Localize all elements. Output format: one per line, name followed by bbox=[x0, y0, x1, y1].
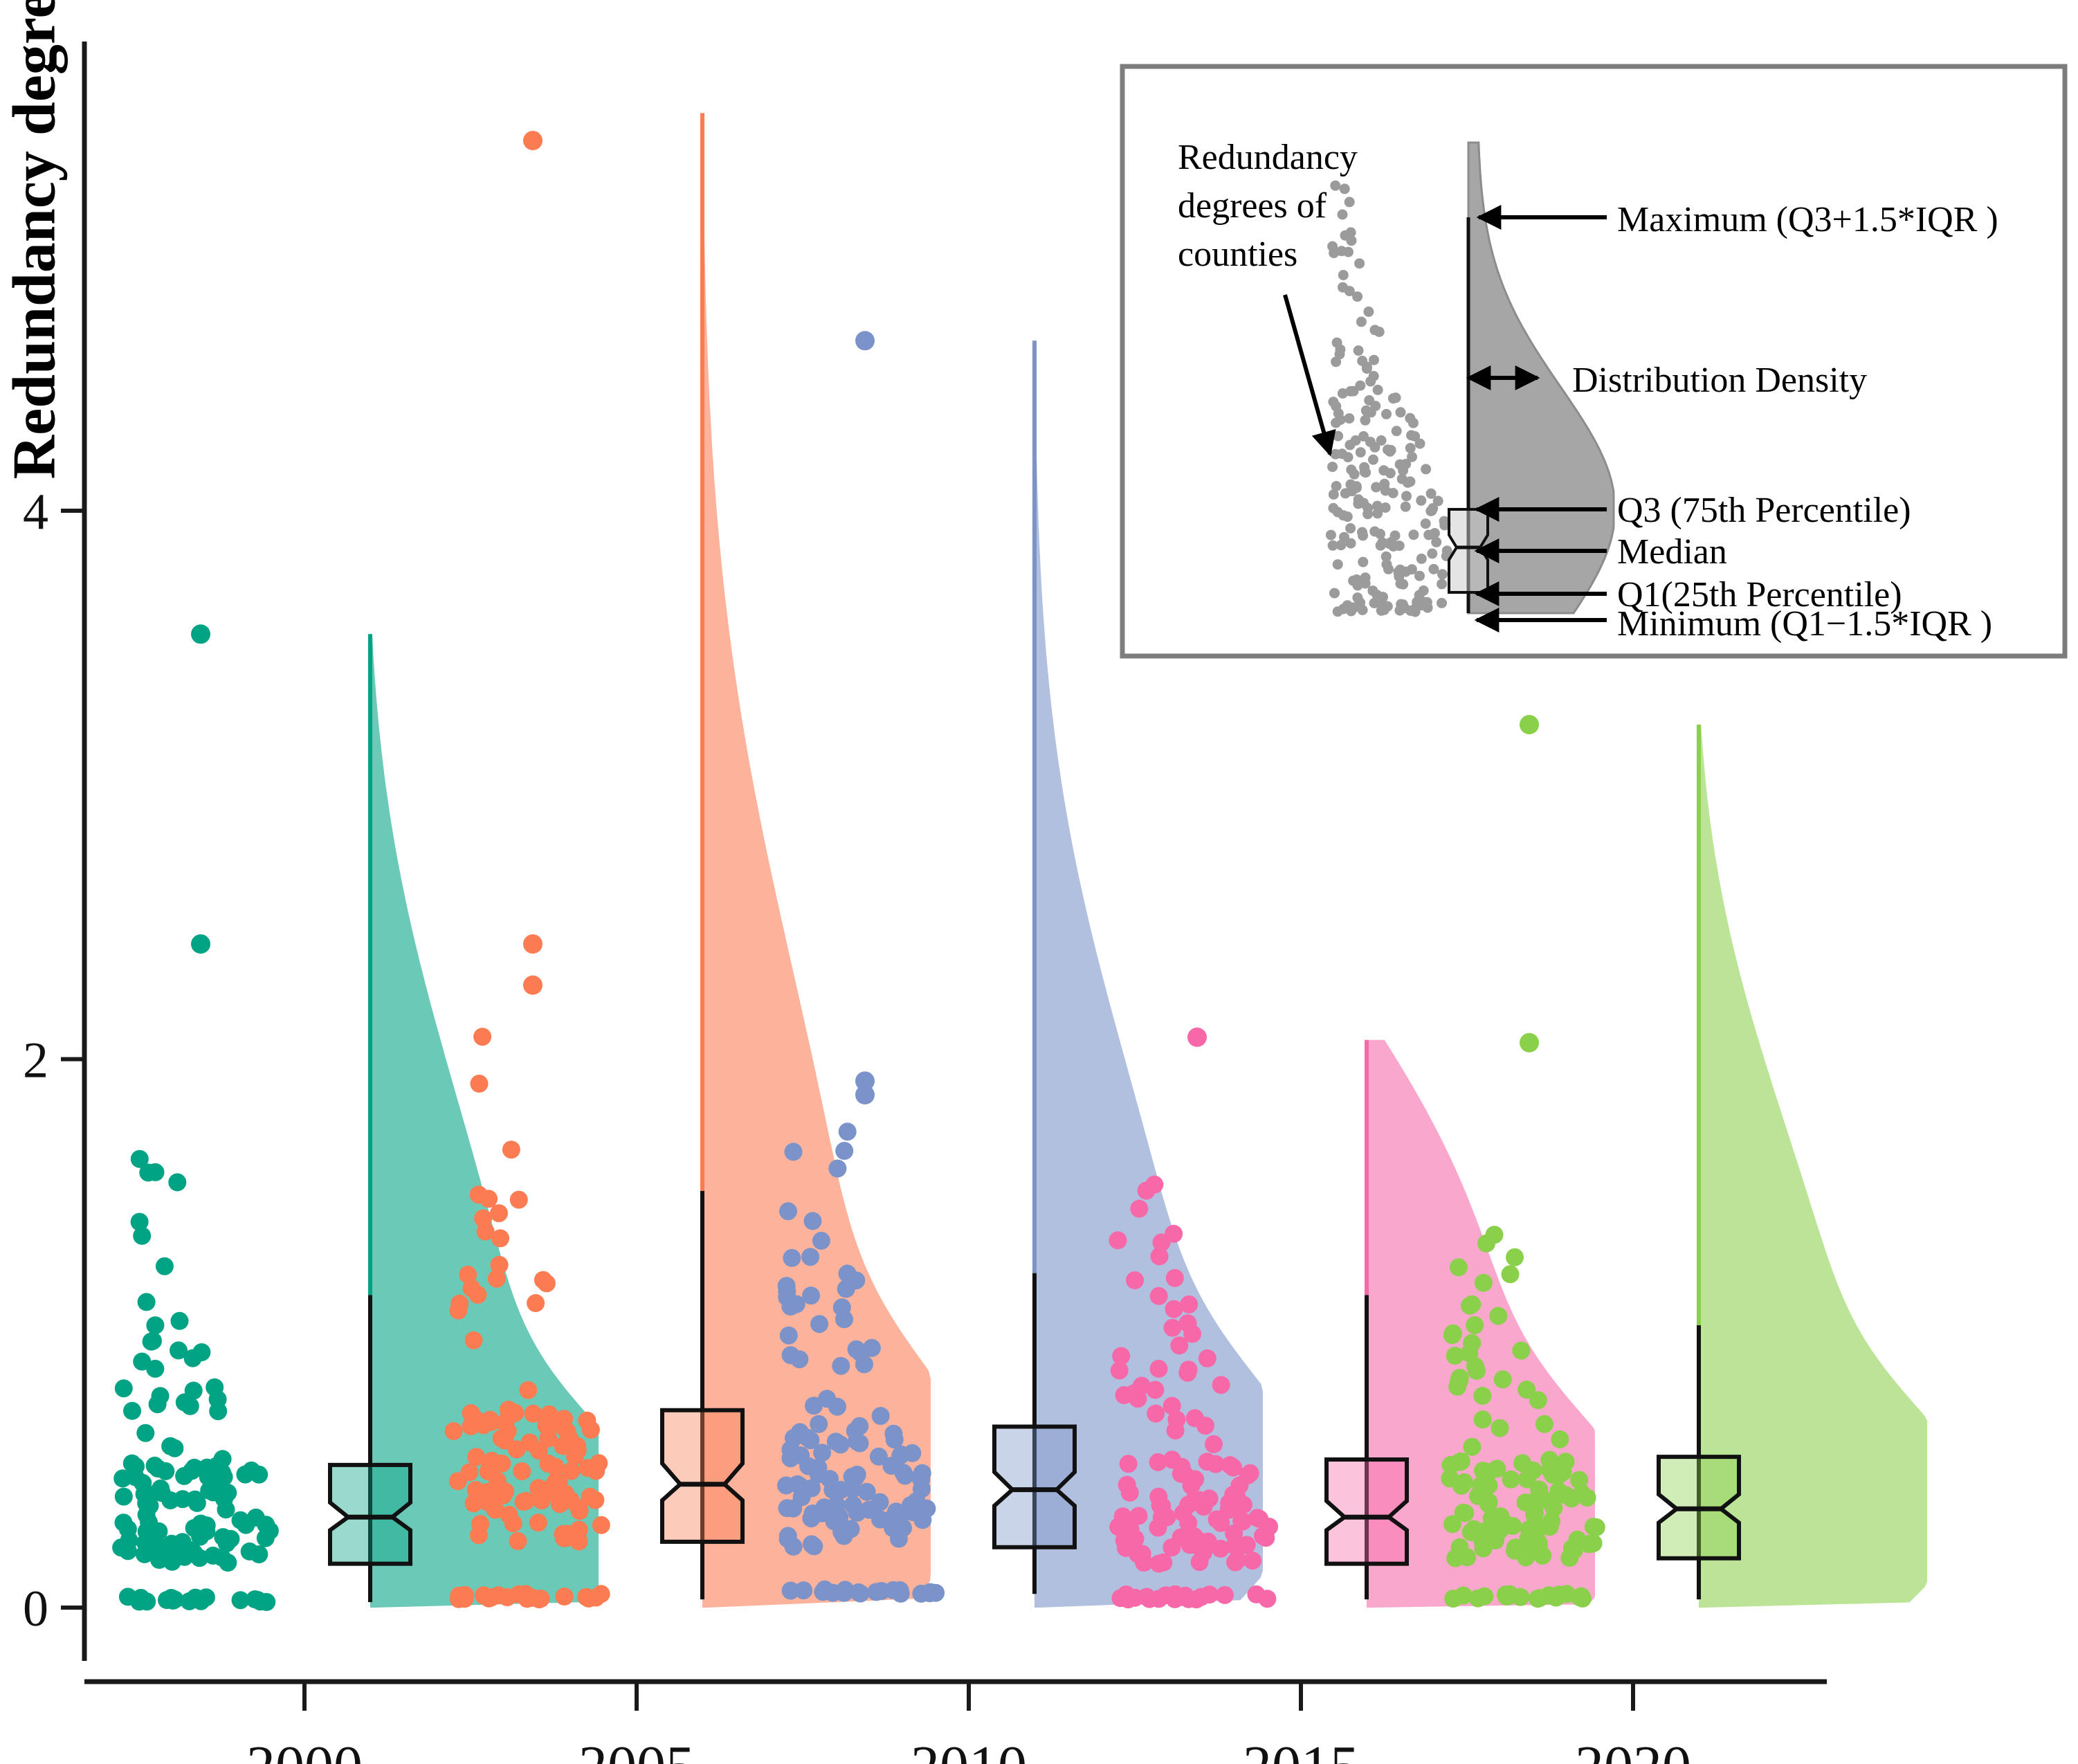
data-point bbox=[149, 1395, 167, 1413]
data-point bbox=[1109, 1231, 1127, 1249]
data-point bbox=[1494, 1513, 1512, 1531]
data-point bbox=[1118, 1476, 1136, 1494]
x-axis-tick-label: 2020 bbox=[1575, 1734, 1691, 1764]
data-point bbox=[810, 1315, 828, 1333]
data-point bbox=[554, 1525, 572, 1543]
data-point bbox=[781, 1298, 799, 1316]
data-point bbox=[896, 1467, 914, 1485]
data-point bbox=[146, 1316, 164, 1334]
data-point bbox=[480, 1190, 498, 1208]
outlier-point bbox=[855, 331, 875, 350]
data-point bbox=[587, 1462, 605, 1480]
data-point bbox=[502, 1140, 520, 1158]
data-point bbox=[1443, 1326, 1461, 1344]
data-point bbox=[1191, 1553, 1209, 1571]
inset-data-point bbox=[1369, 598, 1380, 608]
data-point bbox=[1199, 1453, 1216, 1471]
inset-scatter-label-line1: Redundancy bbox=[1178, 138, 1358, 177]
inset-data-point bbox=[1365, 437, 1376, 447]
inset-data-point bbox=[1437, 579, 1447, 589]
inset-data-point bbox=[1342, 511, 1353, 522]
data-point bbox=[540, 1455, 558, 1473]
inset-data-point bbox=[1333, 431, 1343, 442]
inset-data-point bbox=[1437, 569, 1448, 579]
data-point bbox=[1466, 1357, 1484, 1375]
inset-q3-label: Q3 (75th Percentile) bbox=[1617, 491, 1911, 530]
data-point bbox=[513, 1462, 531, 1480]
boxplot-box bbox=[662, 1410, 742, 1542]
data-point bbox=[867, 1583, 885, 1601]
data-point bbox=[556, 1588, 574, 1606]
data-point bbox=[158, 1591, 176, 1609]
data-point bbox=[1450, 1372, 1468, 1390]
inset-data-point bbox=[1331, 418, 1341, 428]
data-point bbox=[921, 1583, 939, 1601]
data-point bbox=[138, 1293, 156, 1311]
inset-data-point bbox=[1360, 466, 1370, 477]
violin-group-2015[interactable] bbox=[1109, 1028, 1596, 1608]
inset-median-label: Median bbox=[1617, 532, 1727, 572]
data-point bbox=[835, 1584, 853, 1602]
data-point bbox=[504, 1514, 522, 1532]
data-point bbox=[1513, 1454, 1531, 1472]
inset-data-point bbox=[1355, 381, 1365, 391]
data-point bbox=[161, 1437, 179, 1455]
outlier-point bbox=[191, 934, 210, 954]
data-point bbox=[145, 1542, 163, 1560]
inset-data-point bbox=[1428, 564, 1439, 574]
data-point bbox=[886, 1430, 904, 1448]
data-point bbox=[1130, 1507, 1148, 1525]
inset-data-point bbox=[1416, 554, 1427, 564]
data-point bbox=[1258, 1590, 1276, 1608]
data-point bbox=[1119, 1590, 1137, 1608]
data-point bbox=[814, 1583, 832, 1601]
boxplot-box bbox=[1327, 1460, 1407, 1564]
outlier-point bbox=[1520, 715, 1539, 734]
data-point bbox=[1462, 1523, 1480, 1541]
inset-data-point bbox=[1381, 559, 1392, 570]
data-point bbox=[592, 1516, 610, 1534]
data-point bbox=[219, 1484, 237, 1502]
inset-data-point bbox=[1364, 395, 1374, 406]
data-point bbox=[462, 1417, 480, 1435]
data-point bbox=[1474, 1410, 1492, 1428]
inset-data-point bbox=[1357, 527, 1367, 538]
data-point bbox=[1551, 1430, 1569, 1448]
data-point bbox=[1166, 1269, 1184, 1287]
inset-data-point bbox=[1351, 435, 1361, 446]
data-point bbox=[146, 1360, 164, 1378]
data-point bbox=[804, 1212, 822, 1230]
inset-data-point bbox=[1358, 557, 1368, 567]
inset-data-point bbox=[1408, 418, 1419, 428]
data-point bbox=[1456, 1504, 1474, 1522]
data-point bbox=[1216, 1586, 1234, 1604]
inset-data-point bbox=[1352, 592, 1362, 603]
data-point bbox=[474, 1210, 492, 1228]
data-point bbox=[1475, 1539, 1493, 1557]
inset-data-point bbox=[1343, 247, 1354, 257]
data-point bbox=[812, 1232, 830, 1250]
data-point bbox=[1441, 1470, 1459, 1488]
data-point bbox=[580, 1590, 598, 1608]
data-point bbox=[1221, 1456, 1239, 1474]
inset-scatter-label-line3: counties bbox=[1178, 235, 1297, 274]
data-point bbox=[586, 1491, 604, 1509]
outlier-point bbox=[523, 934, 543, 954]
data-point bbox=[1112, 1347, 1130, 1365]
data-point bbox=[1205, 1435, 1223, 1453]
data-point bbox=[913, 1480, 931, 1498]
data-point bbox=[1491, 1419, 1509, 1437]
data-point bbox=[1179, 1314, 1197, 1332]
inset-data-point bbox=[1380, 486, 1391, 496]
data-point bbox=[782, 1582, 800, 1600]
data-point bbox=[1475, 1274, 1493, 1292]
data-point bbox=[465, 1331, 483, 1349]
y-axis-tick-label: 4 bbox=[23, 484, 48, 540]
data-point bbox=[780, 1327, 798, 1345]
y-axis-tick-label: 0 bbox=[23, 1581, 48, 1637]
inset-data-point bbox=[1344, 413, 1354, 424]
data-point bbox=[1451, 1538, 1469, 1556]
data-point bbox=[805, 1537, 823, 1555]
inset-legend-diagram: Redundancydegrees ofcountiesMaximum (Q3+… bbox=[1122, 66, 2065, 656]
data-point bbox=[1494, 1370, 1512, 1388]
data-point bbox=[1115, 1386, 1133, 1404]
data-point bbox=[1199, 1349, 1216, 1367]
data-point bbox=[1529, 1590, 1547, 1608]
inset-data-point bbox=[1368, 455, 1378, 465]
x-axis-tick-label: 2015 bbox=[1243, 1734, 1359, 1764]
inset-data-point bbox=[1421, 518, 1431, 529]
data-point bbox=[1195, 1498, 1213, 1516]
data-point bbox=[141, 1497, 159, 1515]
data-point bbox=[903, 1444, 921, 1462]
jitter-points bbox=[1441, 715, 1605, 1608]
data-point bbox=[1230, 1476, 1248, 1494]
x-axis-tick-label: 2010 bbox=[911, 1734, 1027, 1764]
data-point bbox=[538, 1274, 556, 1292]
data-point bbox=[1140, 1590, 1158, 1608]
data-point bbox=[1463, 1438, 1481, 1456]
data-point bbox=[1572, 1588, 1590, 1606]
inset-data-point bbox=[1416, 495, 1426, 506]
inset-data-point bbox=[1381, 409, 1392, 419]
data-point bbox=[510, 1191, 528, 1209]
data-point bbox=[1150, 1360, 1168, 1378]
data-point bbox=[872, 1407, 890, 1425]
data-point bbox=[1473, 1387, 1491, 1405]
outlier-point bbox=[523, 976, 543, 995]
data-point bbox=[131, 1213, 149, 1231]
data-point bbox=[851, 1585, 869, 1603]
data-point bbox=[491, 1256, 509, 1274]
data-point bbox=[858, 1483, 876, 1501]
outlier-point bbox=[1520, 1033, 1539, 1053]
data-point bbox=[482, 1588, 500, 1606]
inset-data-point bbox=[1374, 327, 1385, 337]
data-point bbox=[491, 1229, 509, 1247]
data-point bbox=[802, 1286, 820, 1304]
data-point bbox=[493, 1455, 511, 1473]
data-point bbox=[115, 1513, 133, 1531]
data-point bbox=[1525, 1506, 1543, 1524]
inset-data-point bbox=[1383, 444, 1393, 455]
data-point bbox=[1170, 1336, 1188, 1354]
data-point bbox=[445, 1422, 463, 1440]
inset-data-point bbox=[1361, 406, 1371, 416]
data-point bbox=[147, 1163, 165, 1181]
inset-data-point bbox=[1367, 585, 1378, 596]
data-point bbox=[519, 1381, 537, 1399]
raincloud-violin-chart: 02420002005201020152020 Redundancydegree… bbox=[0, 0, 2078, 1764]
data-point bbox=[144, 1332, 162, 1350]
data-point bbox=[1254, 1527, 1272, 1545]
data-point bbox=[582, 1421, 600, 1439]
inset-data-point bbox=[1336, 540, 1346, 550]
inset-data-point bbox=[1405, 443, 1416, 453]
inset-data-point bbox=[1403, 478, 1413, 488]
outlier-point bbox=[191, 624, 210, 644]
data-point bbox=[832, 1357, 850, 1375]
data-point bbox=[1446, 1347, 1464, 1365]
inset-maximum-label: Maximum (Q3+1.5*IQR ) bbox=[1617, 200, 1998, 239]
data-point bbox=[115, 1488, 133, 1506]
data-point bbox=[813, 1504, 831, 1522]
jitter-points bbox=[112, 624, 279, 1611]
inset-data-point bbox=[1338, 282, 1348, 293]
data-point bbox=[1147, 1405, 1165, 1423]
data-point bbox=[181, 1397, 199, 1415]
data-point bbox=[219, 1554, 237, 1572]
data-point bbox=[510, 1585, 528, 1603]
data-point bbox=[146, 1457, 164, 1475]
data-point bbox=[1178, 1364, 1196, 1382]
data-point bbox=[1133, 1376, 1151, 1394]
data-point bbox=[1480, 1493, 1498, 1511]
data-point bbox=[168, 1173, 186, 1191]
data-point bbox=[527, 1294, 545, 1312]
inset-data-point bbox=[1401, 502, 1411, 512]
data-point bbox=[887, 1502, 905, 1520]
inset-data-point bbox=[1376, 435, 1387, 446]
inset-data-point bbox=[1437, 598, 1447, 608]
data-point bbox=[490, 1204, 508, 1222]
violin-group-2000[interactable] bbox=[112, 624, 599, 1611]
data-point bbox=[1557, 1486, 1575, 1504]
inset-data-point bbox=[1343, 452, 1354, 462]
data-point bbox=[1165, 1225, 1183, 1243]
inset-data-point bbox=[1330, 181, 1340, 191]
inset-data-point bbox=[1327, 462, 1338, 472]
data-point bbox=[904, 1503, 922, 1521]
data-point bbox=[785, 1143, 803, 1161]
data-point bbox=[1163, 1397, 1181, 1415]
data-point bbox=[1181, 1536, 1199, 1554]
inset-data-point bbox=[1345, 197, 1355, 207]
data-point bbox=[554, 1437, 572, 1455]
inset-data-point bbox=[1408, 529, 1419, 540]
data-point bbox=[1212, 1540, 1230, 1558]
data-point bbox=[209, 1390, 227, 1408]
data-point bbox=[213, 1464, 231, 1482]
data-point bbox=[1450, 1258, 1468, 1276]
data-point bbox=[1530, 1480, 1548, 1498]
data-point bbox=[779, 1202, 797, 1220]
data-point bbox=[500, 1408, 518, 1426]
y-axis-tick-label: 2 bbox=[23, 1033, 48, 1089]
data-point bbox=[1502, 1471, 1520, 1489]
inset-data-point bbox=[1331, 356, 1341, 367]
figure-canvas: 02420002005201020152020 Redundancydegree… bbox=[0, 0, 2078, 1764]
data-point bbox=[529, 1513, 547, 1531]
data-point bbox=[562, 1462, 580, 1480]
data-point bbox=[156, 1257, 174, 1275]
data-point bbox=[181, 1592, 199, 1610]
data-point bbox=[1150, 1287, 1168, 1305]
data-point bbox=[1234, 1495, 1252, 1513]
inset-data-point bbox=[1340, 488, 1351, 498]
inset-data-point bbox=[1349, 469, 1360, 480]
inset-data-point bbox=[1342, 600, 1353, 610]
inset-data-point bbox=[1430, 528, 1440, 538]
data-point bbox=[782, 1346, 800, 1364]
data-point bbox=[1201, 1585, 1219, 1603]
data-point bbox=[846, 1422, 864, 1440]
data-point bbox=[1212, 1376, 1230, 1394]
inset-data-point bbox=[1351, 574, 1362, 585]
data-point bbox=[1477, 1235, 1495, 1253]
data-point bbox=[170, 1341, 188, 1359]
inset-data-point bbox=[1333, 559, 1343, 570]
inset-data-point bbox=[1406, 430, 1416, 441]
data-point bbox=[471, 1075, 489, 1093]
data-point bbox=[1547, 1589, 1565, 1607]
data-point bbox=[839, 1122, 857, 1140]
data-point bbox=[1541, 1518, 1559, 1536]
inset-data-point bbox=[1346, 227, 1356, 237]
x-axis-tick-label: 2005 bbox=[578, 1734, 695, 1764]
data-point bbox=[1176, 1466, 1194, 1484]
data-point bbox=[515, 1493, 533, 1511]
inset-data-point bbox=[1369, 371, 1379, 381]
data-point bbox=[529, 1479, 547, 1497]
data-point bbox=[1502, 1265, 1520, 1283]
data-point bbox=[1167, 1421, 1185, 1439]
data-point bbox=[174, 1490, 192, 1508]
data-point bbox=[1489, 1307, 1507, 1325]
inset-data-point bbox=[1398, 599, 1408, 610]
data-point bbox=[1540, 1451, 1558, 1469]
data-point bbox=[832, 1435, 850, 1453]
inset-data-point bbox=[1329, 489, 1339, 500]
data-point bbox=[892, 1585, 910, 1603]
data-point bbox=[892, 1519, 910, 1537]
data-point bbox=[1506, 1538, 1524, 1556]
violin-group-2020[interactable] bbox=[1441, 715, 1927, 1608]
inset-data-point bbox=[1356, 447, 1366, 457]
data-point bbox=[1120, 1455, 1138, 1473]
data-point bbox=[1535, 1415, 1553, 1433]
data-point bbox=[1166, 1590, 1184, 1608]
inset-data-point bbox=[1396, 407, 1406, 417]
data-point bbox=[792, 1477, 810, 1495]
boxplot-box bbox=[330, 1465, 410, 1564]
data-point bbox=[1196, 1417, 1214, 1435]
data-point bbox=[246, 1590, 264, 1608]
x-axis-tick-label: 2000 bbox=[246, 1734, 363, 1764]
data-point bbox=[828, 1398, 846, 1416]
data-point bbox=[1153, 1509, 1171, 1527]
inset-data-point bbox=[1401, 491, 1412, 501]
data-point bbox=[241, 1543, 259, 1561]
data-point bbox=[237, 1516, 255, 1534]
data-point bbox=[127, 1469, 145, 1486]
inset-data-point bbox=[1412, 600, 1422, 610]
data-point bbox=[1127, 1530, 1145, 1548]
data-point bbox=[1165, 1300, 1183, 1318]
data-point bbox=[835, 1142, 853, 1160]
data-point bbox=[480, 1493, 498, 1511]
data-point bbox=[197, 1522, 215, 1540]
data-point bbox=[791, 1423, 809, 1441]
data-point bbox=[171, 1312, 189, 1330]
inset-data-point bbox=[1332, 338, 1342, 348]
data-point bbox=[570, 1521, 588, 1539]
data-point bbox=[115, 1379, 133, 1397]
inset-data-point bbox=[1398, 465, 1408, 475]
data-point bbox=[870, 1448, 888, 1466]
data-point bbox=[1129, 1545, 1147, 1563]
data-point bbox=[562, 1491, 580, 1509]
inset-data-point bbox=[1360, 572, 1371, 583]
data-point bbox=[463, 1280, 481, 1298]
data-point bbox=[1463, 1295, 1481, 1313]
data-point bbox=[119, 1588, 137, 1606]
inset-data-point bbox=[1369, 355, 1379, 365]
data-point bbox=[1243, 1552, 1261, 1570]
data-point bbox=[1226, 1554, 1244, 1572]
data-point bbox=[449, 1472, 467, 1490]
inset-data-point bbox=[1340, 183, 1350, 194]
data-point bbox=[1463, 1334, 1481, 1352]
inset-data-point bbox=[1331, 449, 1341, 460]
data-point bbox=[1444, 1590, 1462, 1608]
data-point bbox=[1573, 1484, 1591, 1502]
inset-data-point bbox=[1377, 537, 1387, 547]
data-point bbox=[778, 1277, 796, 1295]
data-point bbox=[450, 1295, 468, 1313]
data-point bbox=[470, 1526, 488, 1544]
data-point bbox=[473, 1028, 491, 1046]
data-point bbox=[848, 1466, 866, 1484]
data-point bbox=[1130, 1200, 1148, 1218]
data-point bbox=[830, 1508, 848, 1526]
data-point bbox=[1466, 1316, 1484, 1334]
inset-data-point bbox=[1328, 397, 1338, 407]
data-point bbox=[1563, 1539, 1581, 1557]
inset-data-point bbox=[1372, 508, 1383, 518]
data-point bbox=[1164, 1319, 1182, 1337]
data-point bbox=[544, 1409, 562, 1427]
data-point bbox=[1138, 1182, 1156, 1200]
inset-minimum-label: Minimum (Q1−1.5*IQR ) bbox=[1617, 604, 1992, 644]
violin-density bbox=[702, 113, 931, 1608]
data-point bbox=[1225, 1525, 1243, 1543]
data-point bbox=[136, 1424, 154, 1442]
